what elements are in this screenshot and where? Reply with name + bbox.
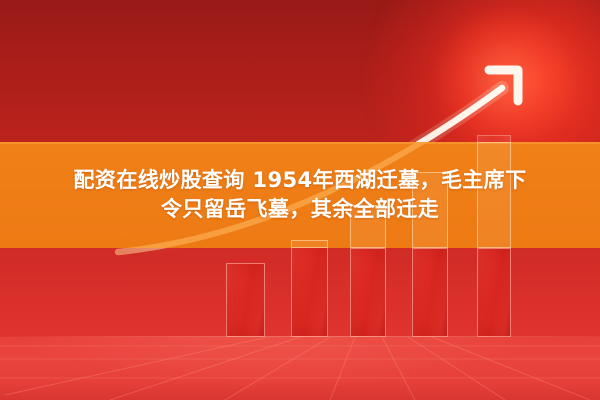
floor-plane xyxy=(0,337,600,400)
banner-image: 配资在线炒股查询 1954年西湖迁墓，毛主席下 令只留岳飞墓，其余全部迁走 xyxy=(0,0,600,400)
headline-line-1: 配资在线炒股查询 1954年西湖迁墓，毛主席下 xyxy=(74,170,527,191)
headline-line-2: 令只留岳飞墓，其余全部迁走 xyxy=(161,199,439,220)
floor-perspective-grid xyxy=(0,337,600,400)
headline-text: 配资在线炒股查询 1954年西湖迁墓，毛主席下 令只留岳飞墓，其余全部迁走 xyxy=(0,142,600,248)
